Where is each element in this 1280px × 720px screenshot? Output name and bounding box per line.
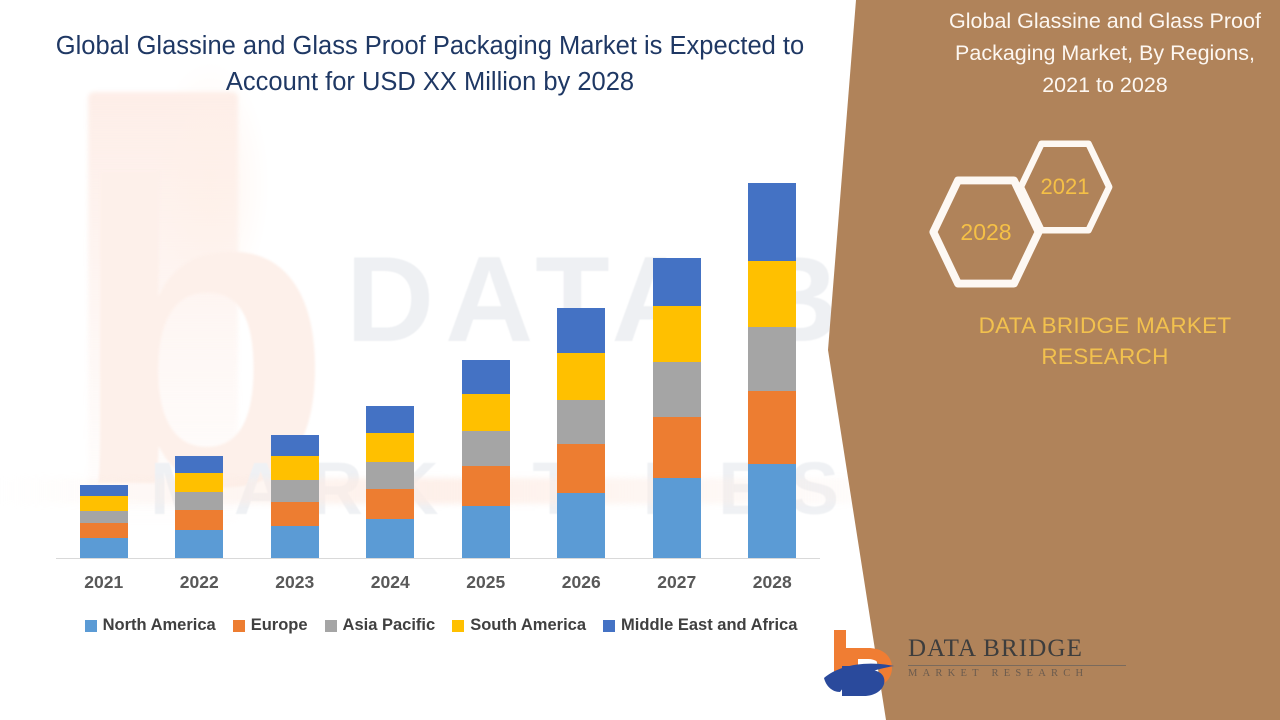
bar-segment [271, 435, 319, 456]
bar-segment [748, 464, 796, 558]
bar-column [366, 406, 414, 558]
bar-column [271, 435, 319, 558]
legend-label: North America [103, 616, 216, 635]
x-axis-label: 2028 [725, 572, 821, 600]
bar-segment [366, 489, 414, 520]
bar-segment [175, 510, 223, 530]
bar-segment [653, 362, 701, 418]
x-axis-label: 2022 [152, 572, 248, 600]
bar-segment [271, 480, 319, 501]
x-axis-label: 2024 [343, 572, 439, 600]
bar-segment [653, 306, 701, 362]
legend-swatch-icon [603, 620, 615, 632]
bar-segment [175, 492, 223, 510]
logo-subtitle: MARKET RESEARCH [908, 669, 1138, 680]
bar-column [557, 308, 605, 558]
bar-segment [462, 360, 510, 394]
bar-column [653, 258, 701, 558]
brand-line-1: DATA BRIDGE MARKET [940, 310, 1270, 341]
bar-segment [557, 353, 605, 399]
legend-item[interactable]: Asia Pacific [325, 616, 436, 635]
legend-label: Europe [251, 616, 308, 635]
bar-segment [80, 485, 128, 496]
hexagon-badge-2021-label: 2021 [1041, 174, 1090, 200]
legend-item[interactable]: Europe [233, 616, 308, 635]
x-axis-label: 2026 [534, 572, 630, 600]
bar-segment [366, 519, 414, 558]
legend-item[interactable]: South America [452, 616, 586, 635]
bar-segment [748, 183, 796, 261]
legend-swatch-icon [452, 620, 464, 632]
bar-segment [557, 493, 605, 558]
bar-segment [557, 444, 605, 493]
right-panel-content: Global Glassine and Glass Proof Packagin… [820, 0, 1280, 720]
bar-column [462, 360, 510, 558]
logo-mark-icon [820, 626, 906, 700]
bar-segment [271, 456, 319, 480]
hexagon-badge-2028-label: 2028 [960, 219, 1011, 246]
bar-segment [462, 506, 510, 558]
chart-legend: North AmericaEuropeAsia PacificSouth Ame… [56, 616, 826, 635]
logo-name: DATA BRIDGE [908, 636, 1138, 661]
legend-label: Middle East and Africa [621, 616, 797, 635]
logo-divider [908, 665, 1126, 666]
bar-segment [462, 466, 510, 506]
brand-name: DATA BRIDGE MARKET RESEARCH [940, 310, 1270, 372]
bar-segment [653, 417, 701, 478]
brand-line-2: RESEARCH [940, 341, 1270, 372]
bar-segment [462, 431, 510, 466]
bar-segment [557, 308, 605, 353]
stacked-bar-chart: 20212022202320242025202620272028 [0, 0, 860, 720]
bar-segment [366, 462, 414, 489]
x-axis-label: 2023 [247, 572, 343, 600]
bar-segment [175, 473, 223, 492]
legend-swatch-icon [233, 620, 245, 632]
x-axis-label: 2027 [629, 572, 725, 600]
bar-segment [366, 433, 414, 462]
bar-segment [748, 261, 796, 327]
bar-column [748, 183, 796, 558]
x-axis-label: 2025 [438, 572, 534, 600]
bar-segment [271, 502, 319, 526]
bar-segment [175, 530, 223, 558]
bar-segment [366, 406, 414, 433]
bar-segment [271, 526, 319, 558]
legend-label: Asia Pacific [343, 616, 436, 635]
bar-segment [748, 327, 796, 392]
x-axis-tick-labels: 20212022202320242025202620272028 [56, 572, 820, 600]
bar-segment [653, 258, 701, 306]
legend-swatch-icon [325, 620, 337, 632]
bar-segment [80, 511, 128, 523]
legend-swatch-icon [85, 620, 97, 632]
bar-segment [80, 496, 128, 511]
bar-segment [80, 523, 128, 538]
data-bridge-b-icon [820, 626, 906, 700]
legend-label: South America [470, 616, 586, 635]
bar-segment [653, 478, 701, 558]
logo-wordmark: DATA BRIDGE MARKET RESEARCH [908, 636, 1138, 680]
infographic-canvas: b DATA BRIDGE MARKET RESEARCH Global Gla… [0, 0, 1280, 720]
bar-segment [748, 391, 796, 463]
company-logo[interactable]: DATA BRIDGE MARKET RESEARCH [820, 626, 1280, 706]
bar-segment [175, 456, 223, 473]
hexagon-badge-2021[interactable]: 2021 [1016, 140, 1114, 234]
bar-column [80, 485, 128, 558]
bar-segment [557, 400, 605, 444]
bar-segment [80, 538, 128, 558]
legend-item[interactable]: North America [85, 616, 216, 635]
bar-segment [462, 394, 510, 431]
x-axis-line [56, 558, 820, 559]
hexagon-badges: 2028 2021 [928, 140, 1268, 300]
bar-column [175, 456, 223, 558]
x-axis-label: 2021 [56, 572, 152, 600]
legend-item[interactable]: Middle East and Africa [603, 616, 797, 635]
panel-title: Global Glassine and Glass Proof Packagin… [940, 6, 1270, 101]
